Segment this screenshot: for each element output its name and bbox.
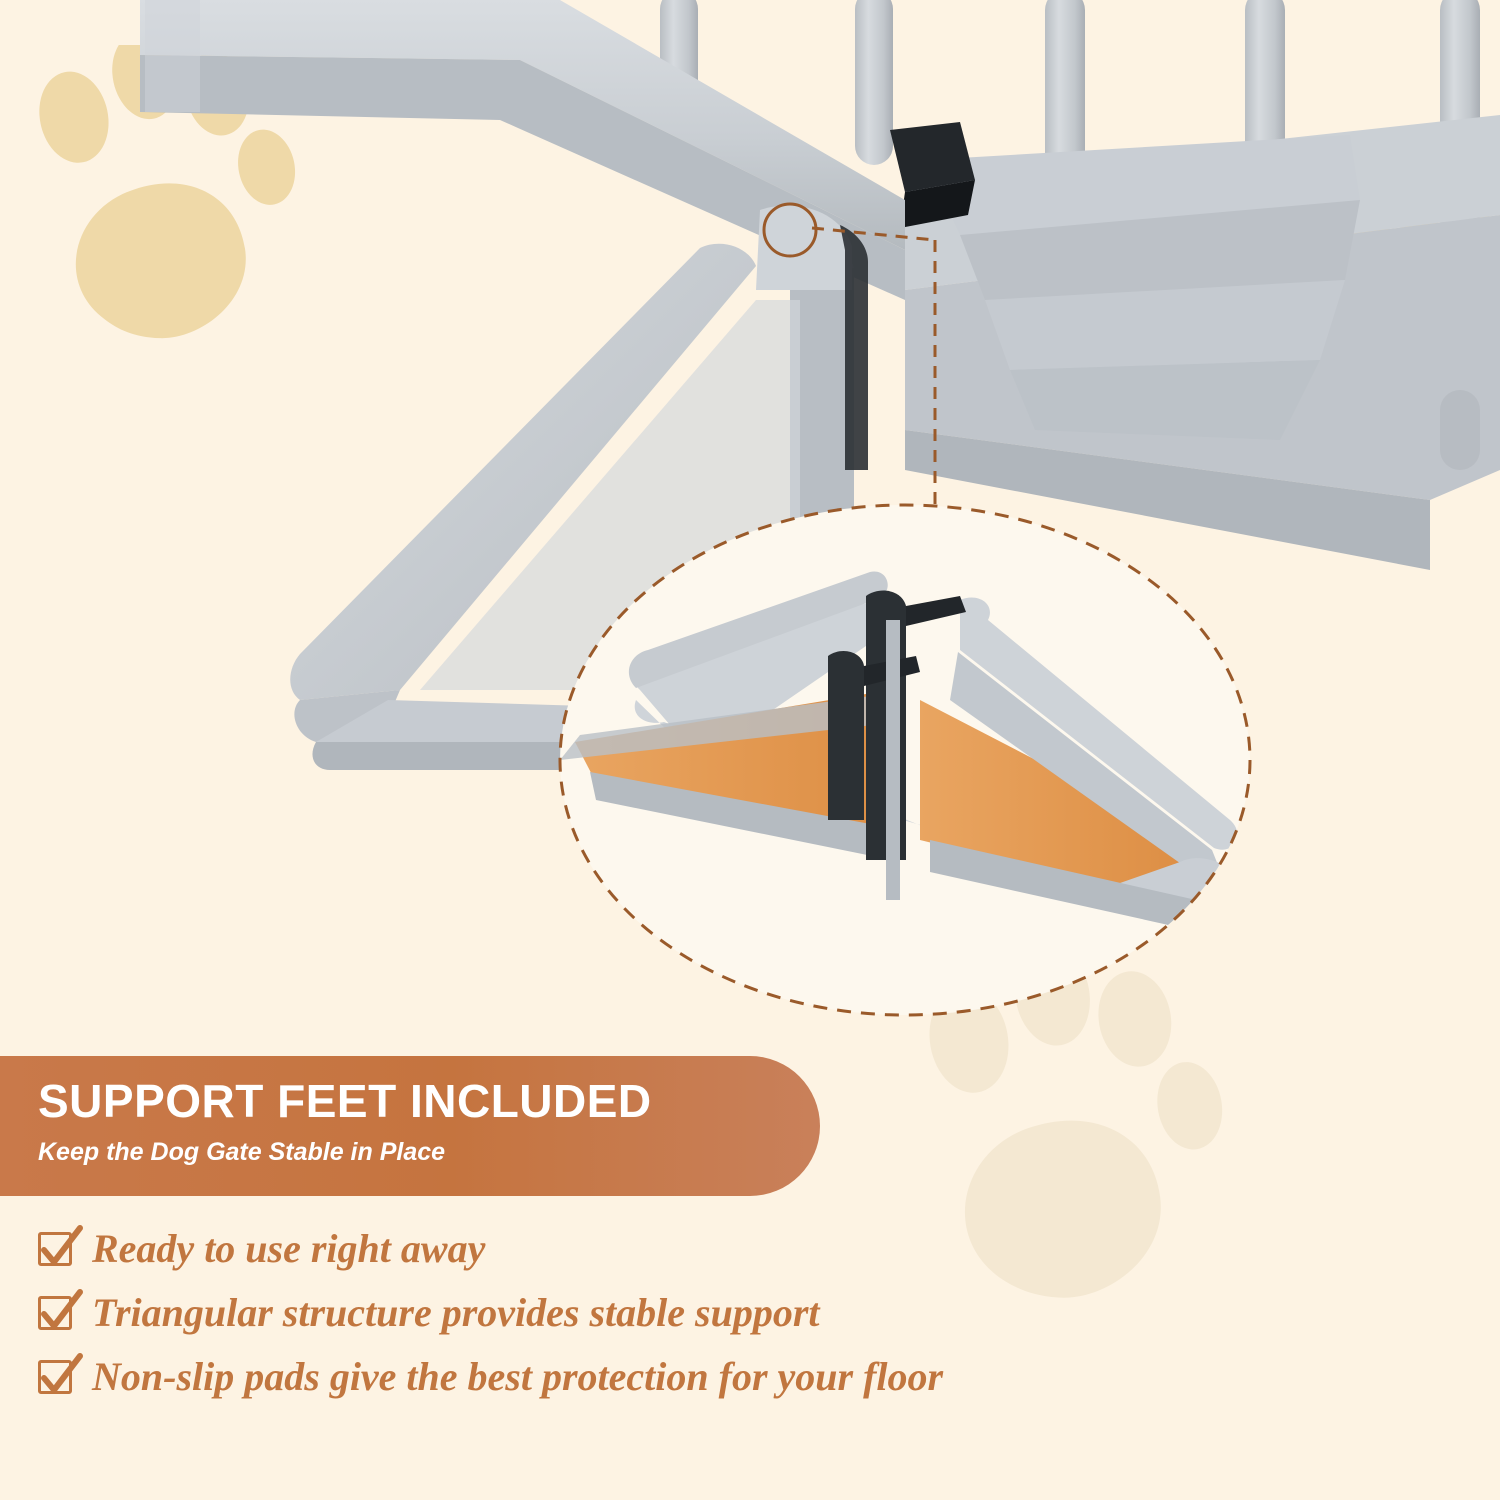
feature-list: Ready to use right away Triangular struc… [38, 1228, 1338, 1420]
support-feet-detail-callout [560, 505, 1250, 1015]
list-item: Triangular structure provides stable sup… [38, 1292, 1338, 1334]
list-item: Non-slip pads give the best protection f… [38, 1356, 1338, 1398]
banner-subtitle: Keep the Dog Gate Stable in Place [38, 1137, 780, 1167]
banner: SUPPORT FEET INCLUDED Keep the Dog Gate … [0, 1056, 820, 1196]
list-item-label: Non-slip pads give the best protection f… [92, 1356, 943, 1398]
dog-gate-illustration [0, 0, 1500, 1060]
banner-title: SUPPORT FEET INCLUDED [38, 1076, 780, 1127]
list-item: Ready to use right away [38, 1228, 1338, 1270]
product-infographic: SUPPORT FEET INCLUDED Keep the Dog Gate … [0, 0, 1500, 1500]
list-item-label: Ready to use right away [92, 1228, 485, 1270]
list-item-label: Triangular structure provides stable sup… [92, 1292, 820, 1334]
checkbox-checked-icon [38, 1360, 72, 1394]
checkbox-checked-icon [38, 1232, 72, 1266]
checkbox-checked-icon [38, 1296, 72, 1330]
